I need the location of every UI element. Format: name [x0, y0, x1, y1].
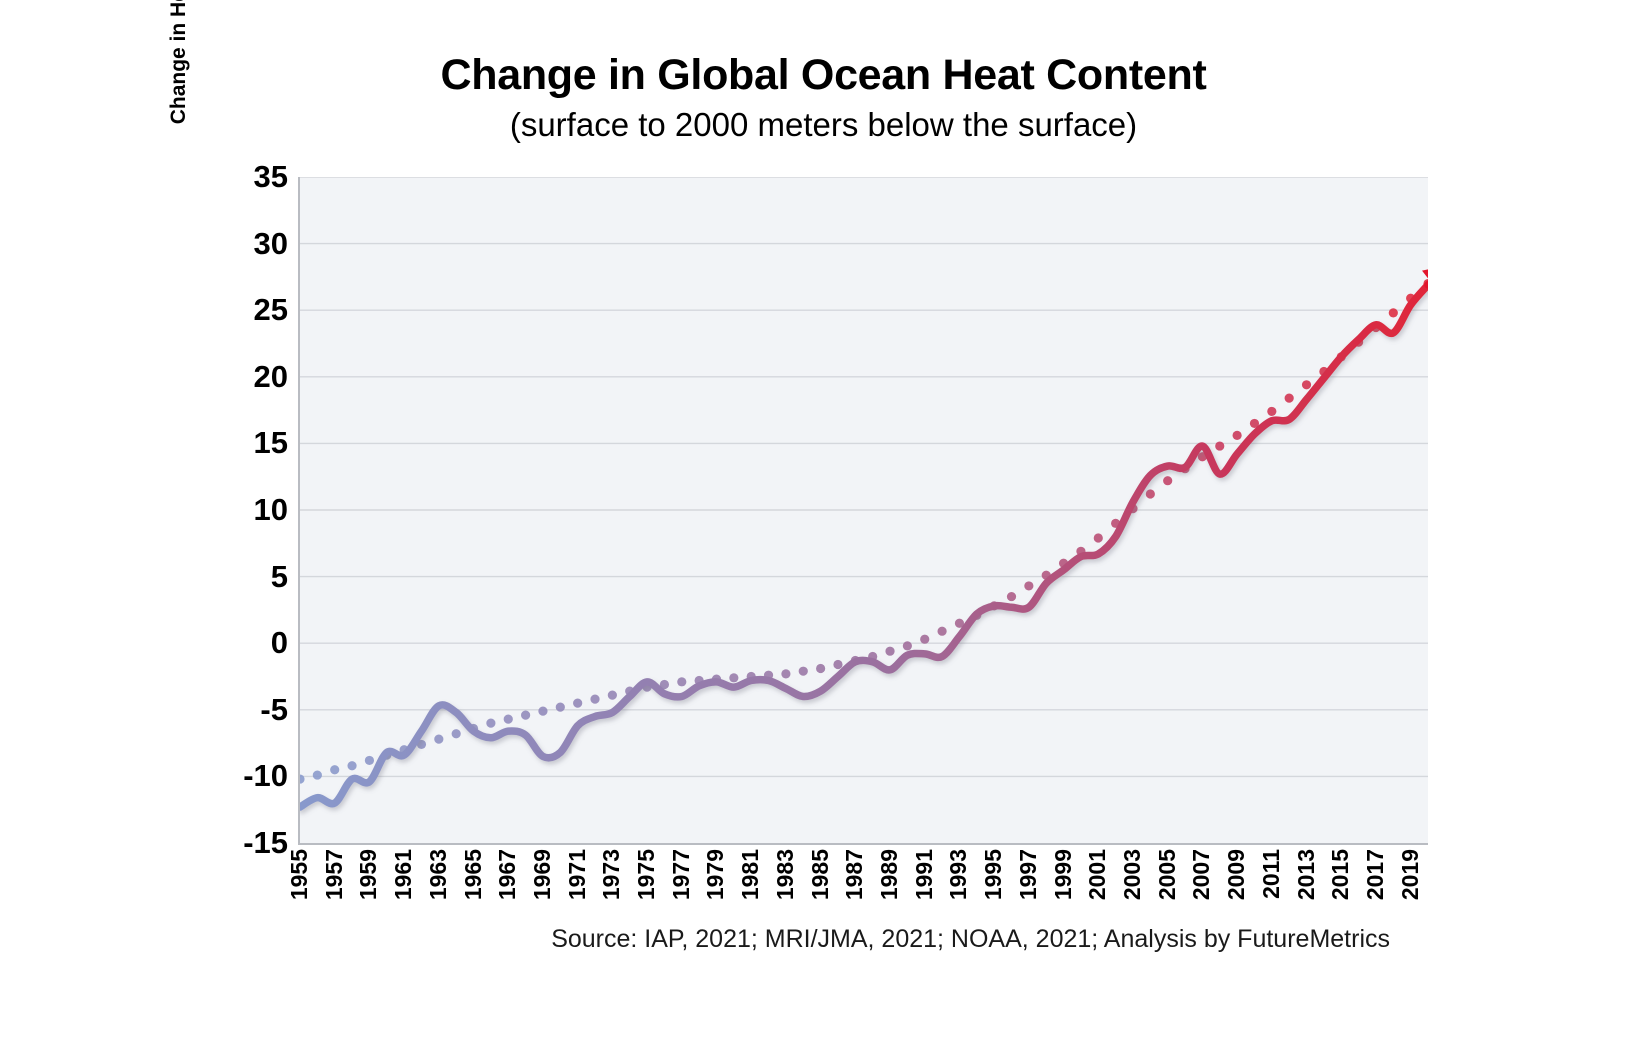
trend-dot: [608, 691, 617, 700]
trend-dot: [677, 677, 686, 686]
x-tick-label: 1971: [564, 849, 591, 900]
x-tick-label: 1999: [1050, 849, 1077, 900]
trend-dot: [1007, 592, 1016, 601]
trend-dot: [920, 635, 929, 644]
trend-series: [300, 279, 1428, 784]
trend-dot: [1285, 394, 1294, 403]
y-tick-label: 15: [218, 427, 288, 458]
trend-dot: [1094, 533, 1103, 542]
trend-dot: [556, 703, 565, 712]
trend-dot: [885, 647, 894, 656]
y-tick-label: 10: [218, 494, 288, 525]
source-note: Source: IAP, 2021; MRI/JMA, 2021; NOAA, …: [0, 925, 1390, 954]
x-tick-label: 1975: [633, 849, 660, 900]
x-tick-label: 1987: [841, 849, 868, 900]
trend-dot: [903, 641, 912, 650]
y-tick-label: -10: [218, 760, 288, 791]
ocean-heat-content-chart: Change in Global Ocean Heat Content (sur…: [0, 0, 1647, 1044]
trend-dot: [1389, 308, 1398, 317]
trend-dot: [729, 673, 738, 682]
x-tick-label: 1973: [598, 849, 625, 900]
trend-dot: [799, 667, 808, 676]
x-tick-label: 2009: [1223, 849, 1250, 900]
trend-dot: [1267, 407, 1276, 416]
x-tick-label: 1995: [980, 849, 1007, 900]
x-tick-label: 1959: [355, 849, 382, 900]
x-tick-label: 1965: [460, 849, 487, 900]
x-tick-label: 1977: [668, 849, 695, 900]
y-axis-tick-labels: 35302520151050-5-10-15: [212, 177, 288, 843]
trend-dot: [330, 765, 339, 774]
y-tick-label: 5: [218, 561, 288, 592]
trend-dot: [833, 660, 842, 669]
x-tick-label: 1979: [702, 849, 729, 900]
x-tick-label: 1981: [737, 849, 764, 900]
plot-area: [298, 177, 1428, 845]
trend-dot: [590, 695, 599, 704]
x-tick-label: 2011: [1258, 849, 1285, 899]
trend-dot: [937, 627, 946, 636]
y-tick-label: -15: [218, 827, 288, 858]
x-tick-label: 1963: [425, 849, 452, 900]
y-tick-label: 20: [218, 361, 288, 392]
trend-dot: [1302, 380, 1311, 389]
trend-dot: [1146, 489, 1155, 498]
y-tick-label: 0: [218, 627, 288, 658]
trend-dot: [347, 761, 356, 770]
chart-subtitle: (surface to 2000 meters below the surfac…: [0, 107, 1647, 143]
trend-dot: [781, 669, 790, 678]
x-tick-label: 2001: [1084, 849, 1111, 900]
x-tick-label: 1983: [772, 849, 799, 900]
x-tick-label: 1991: [911, 849, 938, 900]
y-tick-label: -5: [218, 694, 288, 725]
trend-dot: [521, 711, 530, 720]
trend-dot: [452, 729, 461, 738]
x-tick-label: 1967: [494, 849, 521, 900]
trend-dot: [313, 770, 322, 779]
data-series-layer: [300, 177, 1428, 843]
x-tick-label: 2005: [1154, 849, 1181, 900]
x-tick-label: 2007: [1188, 849, 1215, 900]
trend-dot: [504, 715, 513, 724]
x-tick-label: 1961: [390, 849, 417, 900]
trend-dot: [1024, 581, 1033, 590]
x-tick-label: 1997: [1015, 849, 1042, 900]
trend-dot: [486, 719, 495, 728]
trend-dot: [1163, 476, 1172, 485]
x-tick-label: 1969: [529, 849, 556, 900]
chart-title: Change in Global Ocean Heat Content: [0, 52, 1647, 98]
trend-dot: [434, 735, 443, 744]
y-tick-label: 30: [218, 228, 288, 259]
x-tick-label: 1985: [807, 849, 834, 900]
x-tick-label: 2019: [1397, 849, 1424, 900]
trend-dot: [365, 756, 374, 765]
x-tick-label: 2013: [1293, 849, 1320, 900]
x-tick-label: 2015: [1327, 849, 1354, 900]
trend-dot: [816, 664, 825, 673]
y-axis-title-prefix: Change in Heat Content in 10: [167, 0, 190, 124]
x-tick-label: 1993: [945, 849, 972, 900]
trend-dot: [1215, 441, 1224, 450]
trend-dot: [538, 707, 547, 716]
x-tick-label: 1989: [876, 849, 903, 900]
y-axis-title: Change in Heat Content in 1022 Joules: [164, 0, 194, 235]
x-tick-label: 2003: [1119, 849, 1146, 900]
y-tick-label: 35: [218, 161, 288, 192]
title-block: Change in Global Ocean Heat Content (sur…: [0, 52, 1647, 144]
observed-series-line: [300, 285, 1428, 807]
y-tick-label: 25: [218, 294, 288, 325]
x-tick-label: 1957: [321, 849, 348, 900]
trend-dot: [1233, 431, 1242, 440]
trend-dot: [573, 699, 582, 708]
x-tick-label: 1955: [286, 849, 313, 900]
trend-dot: [300, 774, 305, 783]
x-tick-label: 2017: [1362, 849, 1389, 900]
